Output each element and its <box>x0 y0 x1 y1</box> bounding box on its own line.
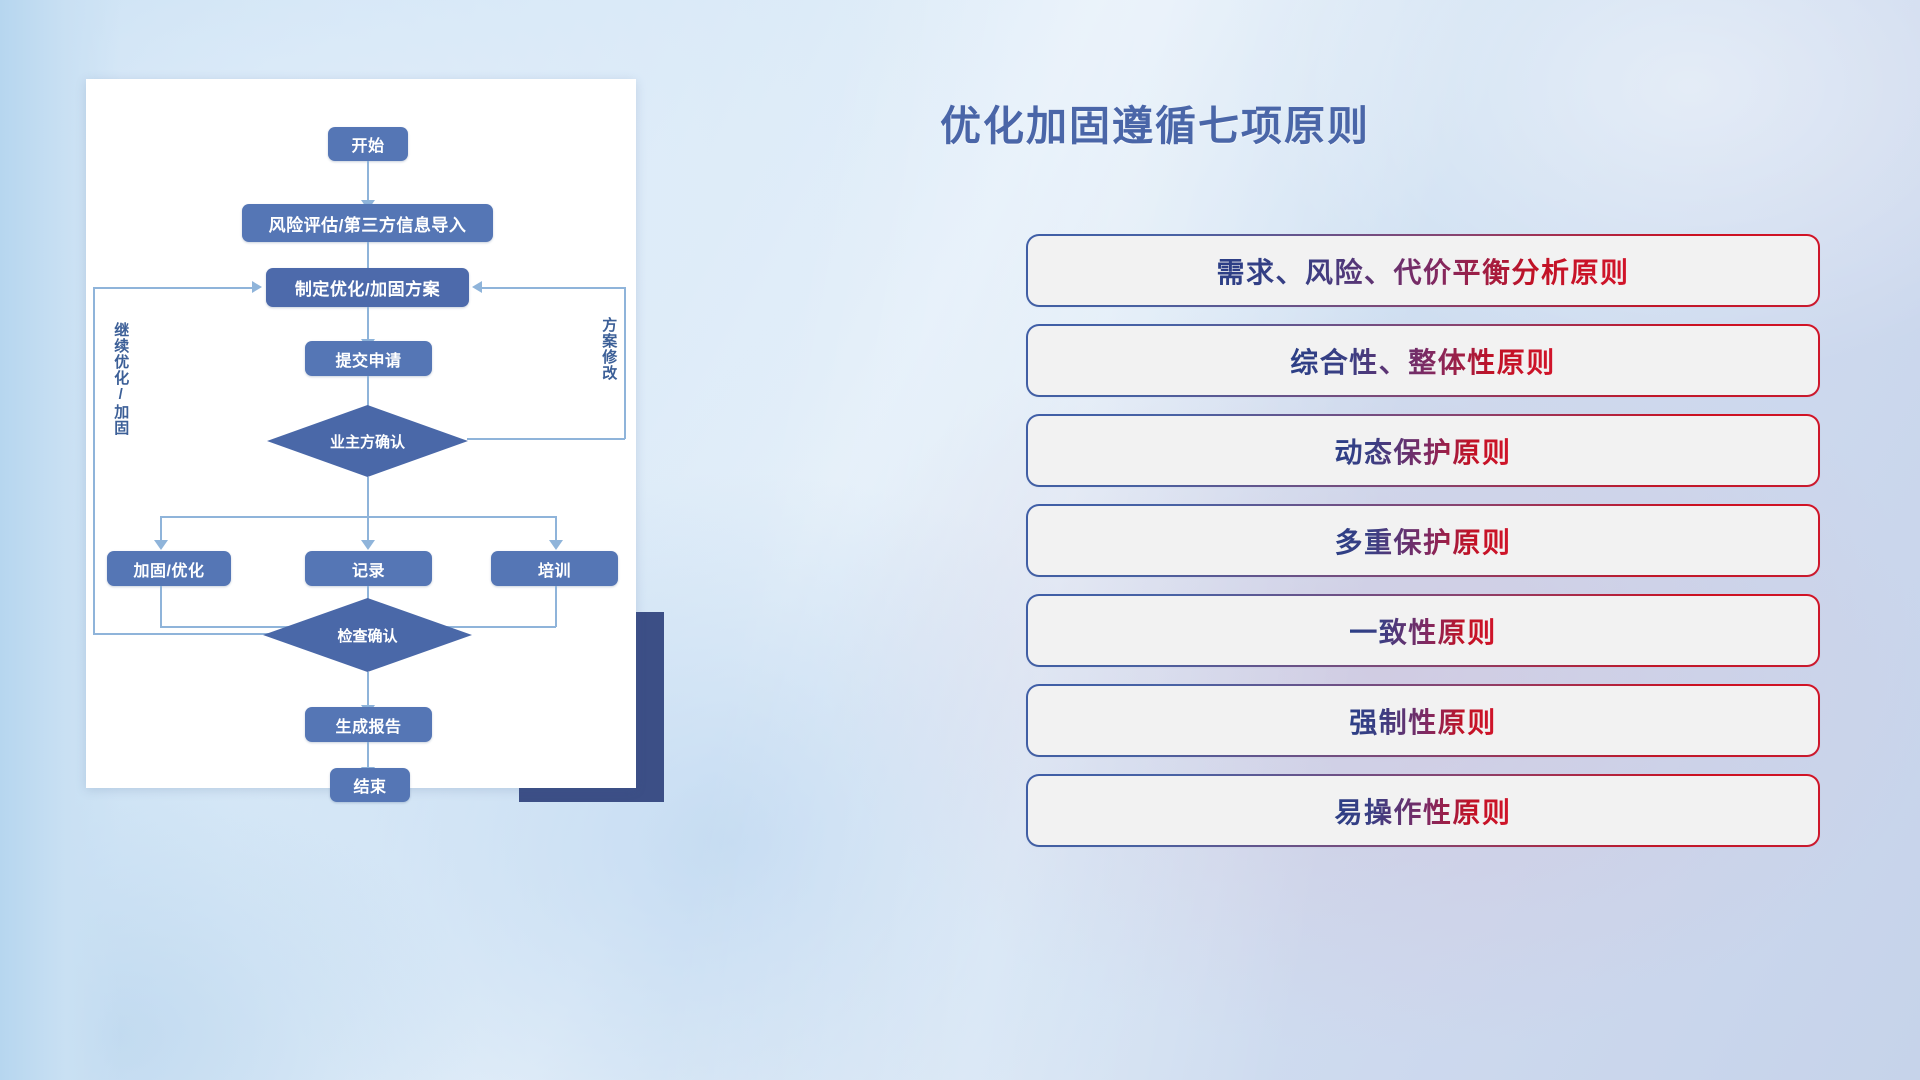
arrow-split-mid <box>361 540 375 550</box>
connector-loop-left-vertical <box>93 287 95 634</box>
principle-label-1: 需求、风险、代价平衡分析原则 <box>1216 251 1629 291</box>
flow-node-start[interactable]: 开始 <box>328 127 408 161</box>
flow-node-owner-confirm[interactable]: 业主方确认 <box>267 405 468 477</box>
principles-list: 需求、风险、代价平衡分析原则 综合性、整体性原则 动态保护原则 多重保护原则 一… <box>1028 236 1818 866</box>
flow-node-record-label: 记录 <box>352 557 385 581</box>
flow-node-check[interactable]: 检查确认 <box>263 598 472 672</box>
connector-merge-right <box>555 586 557 627</box>
flow-node-plan-label: 制定优化/加固方案 <box>295 275 440 300</box>
edge-label-plan-revise: 方案修改 <box>600 317 616 417</box>
flowchart-panel: 开始 风险评估/第三方信息导入 制定优化/加固方案 继续优化/加固 方案修改 <box>86 79 636 788</box>
flow-node-start-label: 开始 <box>351 132 384 156</box>
edge-label-continue-optimize: 继续优化/加固 <box>112 322 128 462</box>
flow-node-report[interactable]: 生成报告 <box>305 707 432 742</box>
arrow-loop-left-into-plan <box>252 281 262 293</box>
principle-label-3: 动态保护原则 <box>1334 431 1511 471</box>
principle-card-1[interactable]: 需求、风险、代价平衡分析原则 <box>1028 236 1818 305</box>
principle-label-6: 强制性原则 <box>1349 701 1497 741</box>
principle-card-wrap: 需求、风险、代价平衡分析原则 <box>1028 236 1818 305</box>
principle-card-6[interactable]: 强制性原则 <box>1028 686 1818 755</box>
flow-node-training-label: 培训 <box>538 557 571 581</box>
principle-card-wrap: 易操作性原则 <box>1028 776 1818 845</box>
arrow-split-left <box>154 540 168 550</box>
principle-card-wrap: 多重保护原则 <box>1028 506 1818 575</box>
flow-node-reinforce-label: 加固/优化 <box>134 557 205 581</box>
flow-node-end[interactable]: 结束 <box>330 768 410 802</box>
connector-merge-left <box>160 586 162 627</box>
flow-node-record[interactable]: 记录 <box>305 551 432 586</box>
flow-node-owner-confirm-label: 业主方确认 <box>330 431 405 452</box>
flow-node-end-label: 结束 <box>353 773 386 797</box>
flow-node-reinforce[interactable]: 加固/优化 <box>107 551 231 586</box>
principle-card-wrap: 强制性原则 <box>1028 686 1818 755</box>
connector-loop-left-top <box>93 287 253 289</box>
principle-label-2: 综合性、整体性原则 <box>1290 341 1556 381</box>
principle-card-3[interactable]: 动态保护原则 <box>1028 416 1818 485</box>
principle-card-wrap: 动态保护原则 <box>1028 416 1818 485</box>
principle-card-4[interactable]: 多重保护原则 <box>1028 506 1818 575</box>
flow-node-risk-assessment[interactable]: 风险评估/第三方信息导入 <box>242 204 493 242</box>
flow-node-report-label: 生成报告 <box>335 713 401 737</box>
principle-label-7: 易操作性原则 <box>1334 791 1511 831</box>
page-title: 优化加固遵循七项原则 <box>940 92 1640 152</box>
principle-label-4: 多重保护原则 <box>1334 521 1511 561</box>
principle-card-7[interactable]: 易操作性原则 <box>1028 776 1818 845</box>
flow-node-training[interactable]: 培训 <box>491 551 618 586</box>
principle-card-5[interactable]: 一致性原则 <box>1028 596 1818 665</box>
connector-split-bar <box>160 516 556 518</box>
flow-node-check-label: 检查确认 <box>337 625 397 646</box>
flow-node-submit-label: 提交申请 <box>335 347 401 371</box>
principle-card-wrap: 综合性、整体性原则 <box>1028 326 1818 395</box>
flow-node-risk-assessment-label: 风险评估/第三方信息导入 <box>269 211 467 236</box>
arrow-split-right <box>549 540 563 550</box>
flow-node-submit[interactable]: 提交申请 <box>305 341 432 376</box>
connector-owner-to-right-loop <box>467 438 625 440</box>
connector-owner-down <box>367 477 369 517</box>
principle-card-wrap: 一致性原则 <box>1028 596 1818 665</box>
connector-loop-right-top <box>482 287 625 289</box>
arrow-loop-right-into-plan <box>472 281 482 293</box>
flow-node-plan[interactable]: 制定优化/加固方案 <box>266 268 469 307</box>
connector-start-to-risk <box>367 161 369 204</box>
connector-loop-right-vertical <box>624 287 626 439</box>
principle-card-2[interactable]: 综合性、整体性原则 <box>1028 326 1818 395</box>
principle-label-5: 一致性原则 <box>1349 611 1497 651</box>
